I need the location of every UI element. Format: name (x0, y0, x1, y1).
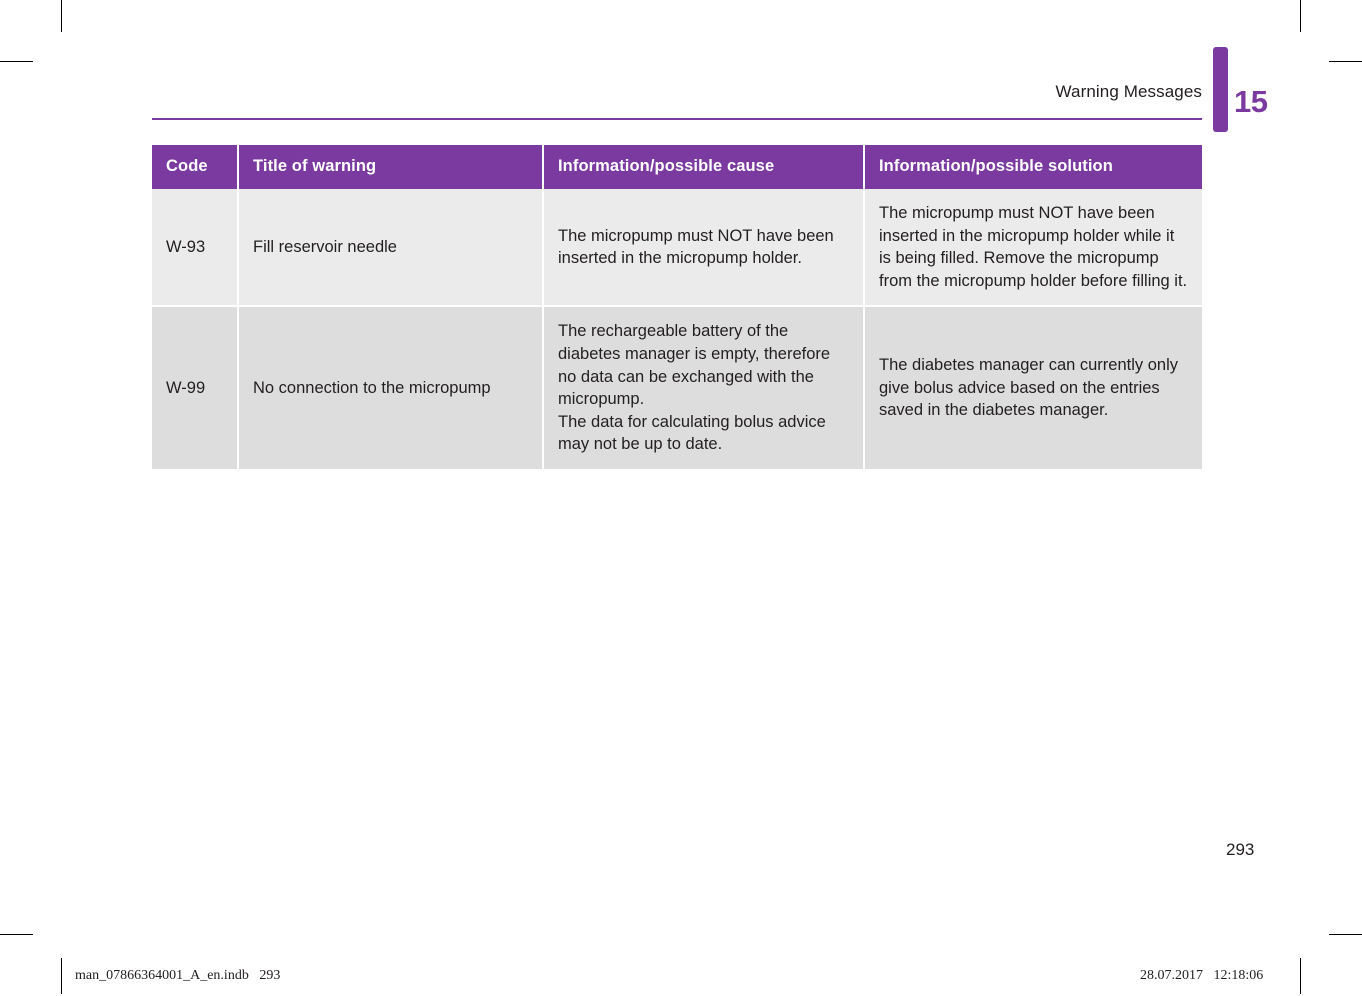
slug-datetime: 28.07.2017 12:18:06 (1140, 968, 1263, 984)
cell-solution: The diabetes manager can currently only … (864, 306, 1202, 470)
crop-mark-bottom-right-horizontal (1329, 934, 1362, 935)
crop-mark-top-left-vertical (61, 0, 62, 32)
cell-solution: The micropump must NOT have been inserte… (864, 189, 1202, 306)
cell-code: W-99 (152, 306, 238, 470)
chapter-tab-bar (1213, 47, 1228, 132)
cell-title: No connection to the micropump (238, 306, 543, 470)
column-header-title: Title of warning (238, 145, 543, 189)
cell-cause: The rechargeable battery of the diabetes… (543, 306, 864, 470)
crop-mark-bottom-left-horizontal (0, 934, 33, 935)
cell-title: Fill reservoir needle (238, 189, 543, 306)
crop-mark-top-left-horizontal (0, 61, 33, 62)
cell-cause: The micropump must NOT have been inserte… (543, 189, 864, 306)
slug-filename: man_07866364001_A_en.indb 293 (75, 968, 280, 984)
running-header-title: Warning Messages (1056, 82, 1202, 102)
column-header-cause: Information/possible cause (543, 145, 864, 189)
column-header-solution: Information/possible solution (864, 145, 1202, 189)
running-header: Warning Messages (152, 82, 1202, 128)
imposition-slug: man_07866364001_A_en.indb 293 28.07.2017… (0, 956, 1362, 996)
slug-rule-left (61, 958, 62, 994)
cell-code: W-93 (152, 189, 238, 306)
crop-mark-top-right-vertical (1300, 0, 1301, 32)
crop-mark-top-right-horizontal (1329, 61, 1362, 62)
table-row: W-93 Fill reservoir needle The micropump… (152, 189, 1202, 306)
table-header-row: Code Title of warning Information/possib… (152, 145, 1202, 189)
warning-messages-table: Code Title of warning Information/possib… (152, 145, 1202, 471)
column-header-code: Code (152, 145, 238, 189)
chapter-number: 15 (1234, 84, 1267, 120)
header-rule (152, 118, 1202, 120)
table-row: W-99 No connection to the micropump The … (152, 306, 1202, 470)
page-number: 293 (1226, 840, 1254, 860)
slug-rule-right (1300, 958, 1301, 994)
